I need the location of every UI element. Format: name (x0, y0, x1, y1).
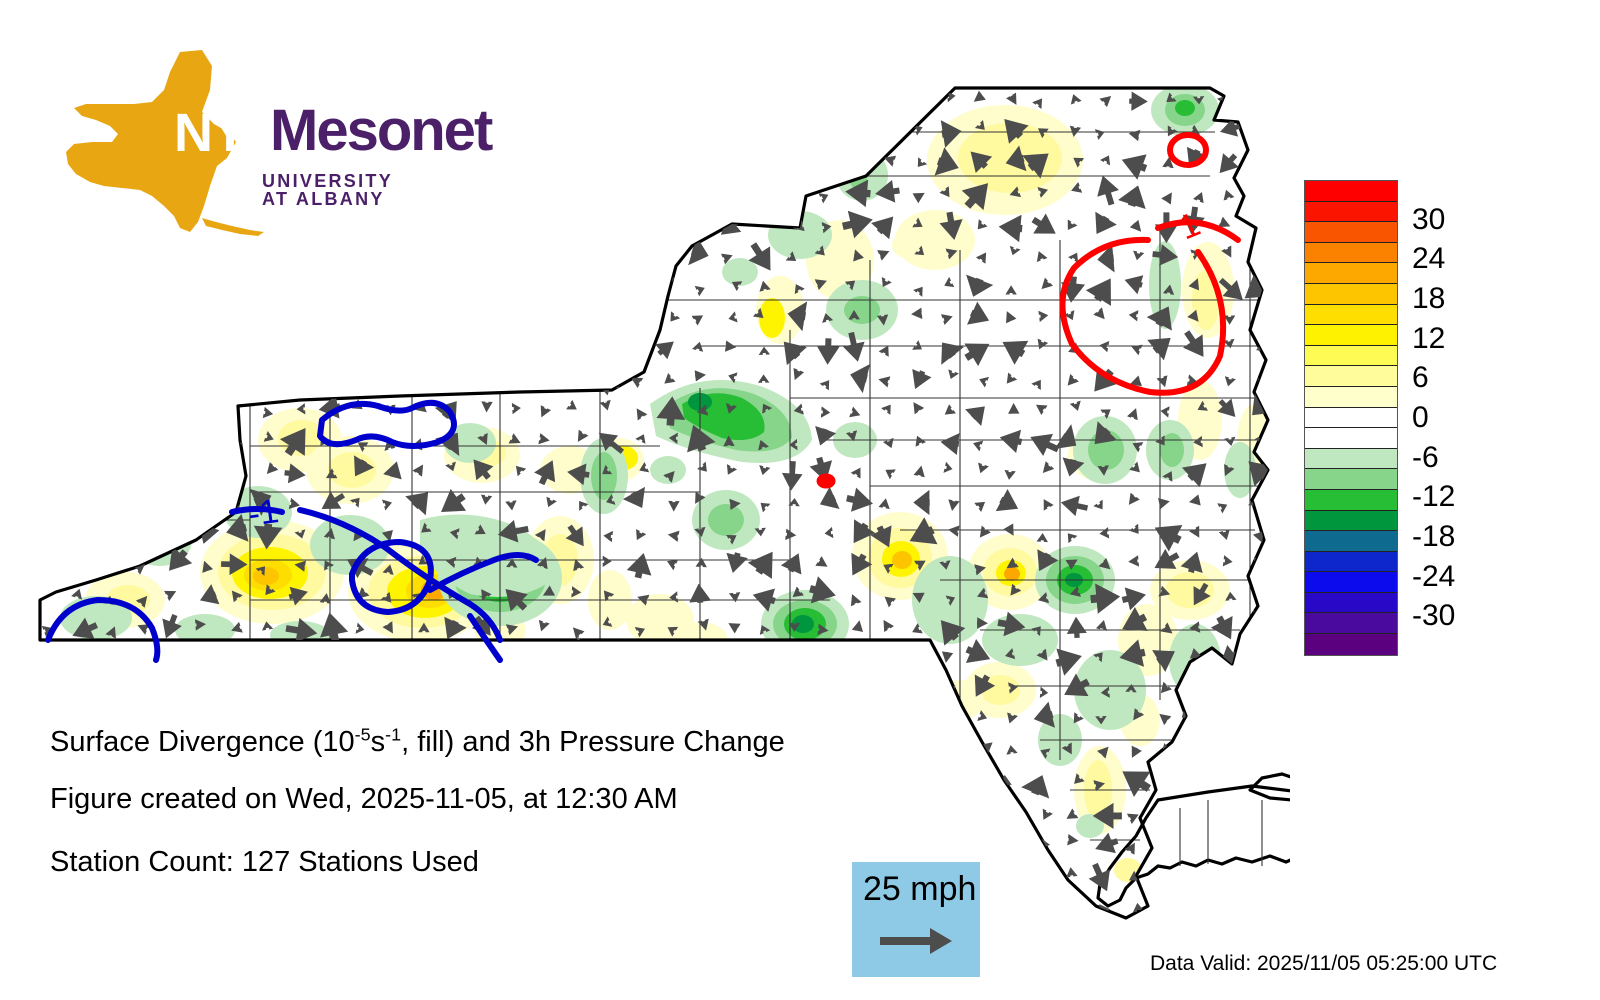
wind-vector-arrow (446, 309, 461, 323)
wind-vector-arrow (755, 841, 768, 855)
wind-vector-arrow (134, 651, 147, 663)
wind-vector-arrow (357, 128, 369, 141)
wind-vector-arrow (314, 669, 349, 703)
wind-vector-arrow (482, 189, 494, 203)
title-exponent-1: -5 (355, 724, 371, 744)
wind-vector-arrow (480, 680, 488, 691)
wind-vector-arrow (781, 764, 813, 794)
wind-vector-arrow (756, 123, 767, 136)
wind-vector-arrow (202, 713, 215, 726)
wind-vector-arrow (77, 337, 91, 350)
wind-vector-arrow (542, 681, 557, 696)
title-exponent-2: -1 (385, 724, 401, 744)
wind-vector-arrow (418, 712, 428, 724)
colorbar-band (1305, 325, 1397, 346)
wind-vector-arrow (108, 559, 120, 573)
wind-vector-arrow (163, 406, 177, 421)
wind-vector-arrow (535, 281, 548, 292)
wind-vector-arrow (930, 825, 961, 856)
wind-vector-arrow (135, 465, 149, 479)
wind-vector-arrow (757, 871, 771, 884)
wind-vector-arrow (686, 179, 711, 206)
wind-vector-arrow (66, 175, 94, 206)
wind-vector-arrow (506, 248, 521, 263)
wind-vector-arrow (1158, 774, 1172, 788)
wind-vector-arrow (37, 241, 68, 273)
wind-vector-arrow (59, 306, 95, 335)
wind-vector-arrow (72, 561, 85, 575)
wind-vector-arrow (790, 870, 800, 882)
wind-vector-arrow (167, 298, 189, 330)
wind-vector-arrow (681, 801, 716, 832)
wind-vector-arrow (604, 277, 616, 291)
wind-vector-arrow (295, 248, 307, 261)
wind-vector-arrow (785, 931, 796, 944)
wind-vector-arrow (388, 159, 400, 168)
wind-vector-arrow (469, 116, 499, 144)
wind-vector-arrow (339, 642, 374, 681)
wind-vector-arrow (387, 183, 401, 197)
wind-vector-arrow (255, 177, 282, 205)
wind-vector-arrow (567, 900, 581, 914)
wind-vector-arrow (540, 96, 552, 109)
wind-vector-arrow (747, 776, 773, 795)
wind-vector-arrow (656, 111, 682, 143)
title-part-3: , fill) and 3h Pressure Change (401, 726, 785, 758)
wind-vector-arrow (412, 642, 439, 670)
wind-vector-arrow (289, 187, 305, 203)
wind-vector-arrow (633, 842, 646, 854)
wind-vector-arrow (108, 897, 122, 911)
wind-vector-arrow (73, 492, 88, 507)
wind-vector-arrow (67, 888, 101, 921)
colorbar-band (1305, 305, 1397, 326)
wind-vector-arrow (814, 153, 829, 167)
wind-vector-arrow (631, 899, 645, 913)
wind-vector-arrow (1215, 832, 1233, 859)
wind-vector-arrow (42, 462, 54, 472)
wind-vector-arrow (229, 900, 245, 916)
wind-vector-arrow (451, 682, 463, 691)
divergence-colorbar[interactable] (1304, 180, 1398, 656)
wind-vector-arrow (349, 310, 365, 325)
wind-vector-arrow (137, 399, 150, 413)
wind-vector-arrow (566, 216, 579, 230)
wind-vector-arrow (506, 285, 518, 293)
colorbar-band (1305, 490, 1397, 511)
wind-vector-arrow (373, 236, 405, 269)
wind-vector-arrow (350, 338, 364, 352)
wind-vector-arrow (201, 158, 215, 171)
wind-vector-arrow (229, 154, 244, 169)
wind-vector-arrow (910, 745, 924, 759)
wind-vector-arrow (506, 126, 520, 139)
wind-vector-arrow (728, 838, 741, 852)
wind-vector-arrow (355, 97, 368, 110)
wind-vector-arrow (1255, 97, 1267, 109)
wind-vector-arrow (1005, 841, 1018, 855)
colorbar-band (1305, 366, 1397, 387)
wind-vector-arrow (281, 360, 312, 392)
wind-vector-arrow (816, 871, 830, 885)
wind-vector-arrow (261, 929, 275, 941)
wind-vector-arrow (319, 89, 334, 104)
wind-vector-arrow (259, 250, 270, 263)
wind-vector-arrow (474, 900, 488, 913)
wind-vector-arrow (387, 654, 402, 668)
wind-vector-arrow (598, 927, 613, 943)
wind-vector-arrow (846, 734, 867, 764)
wind-vector-arrow (42, 929, 56, 943)
wind-vector-arrow (814, 804, 828, 817)
wind-vector-arrow (791, 809, 801, 821)
wind-vector-arrow (408, 273, 430, 292)
wind-vector-arrow (291, 122, 303, 135)
colorbar-band (1305, 202, 1397, 223)
wind-vector-arrow (353, 189, 365, 202)
wind-vector-arrow (944, 745, 956, 757)
wind-vector-arrow (1248, 680, 1262, 695)
wind-vector-arrow (164, 926, 190, 943)
colorbar-tick-label: -12 (1412, 482, 1455, 512)
wind-vector-arrow (413, 309, 426, 323)
wind-vector-arrow (1215, 796, 1244, 825)
wind-vector-arrow (1224, 864, 1236, 878)
wind-vector-arrow (724, 801, 743, 825)
wind-vector-arrow (666, 930, 678, 940)
wind-vector-arrow (450, 127, 458, 138)
wind-vector-arrow (229, 679, 244, 694)
wind-vector-arrow (604, 649, 620, 664)
wind-vector-arrow (45, 342, 59, 356)
wind-vector-arrow (508, 94, 522, 109)
wind-vector-arrow (806, 736, 839, 770)
wind-vector-arrow (1224, 742, 1238, 756)
wind-vector-arrow (1253, 716, 1267, 729)
wind-vector-arrow (1189, 806, 1201, 815)
wind-vector-arrow (450, 185, 463, 197)
colorbar-tick-label: -30 (1412, 601, 1455, 631)
wind-vector-arrow (27, 265, 67, 304)
wind-vector-arrow (632, 650, 648, 666)
wind-vector-arrow (755, 93, 770, 107)
wind-vector-arrow (288, 161, 300, 169)
wind-vector-arrow (685, 893, 721, 927)
wind-vector-arrow (1090, 924, 1117, 949)
wind-vector-arrow (544, 153, 556, 166)
wind-vector-arrow (560, 296, 594, 331)
wind-vector-arrow (905, 829, 935, 859)
wind-vector-arrow (434, 205, 468, 239)
wind-vector-arrow (633, 92, 646, 106)
wind-vector-arrow (71, 525, 86, 540)
wind-vector-arrow (247, 117, 278, 145)
wind-vector-arrow (281, 330, 315, 364)
wind-vector-arrow (568, 372, 584, 388)
wind-vector-arrow (417, 682, 427, 694)
wind-vector-arrow (606, 346, 618, 356)
wind-vector-arrow (573, 155, 585, 169)
wind-vector-arrow (342, 888, 380, 926)
wind-vector-arrow (358, 712, 370, 722)
wind-vector-arrow (758, 153, 772, 167)
wind-vector-arrow (477, 276, 492, 291)
wind-vector-arrow (187, 109, 222, 145)
wind-vector-arrow (232, 188, 246, 203)
wind-vector-arrow (409, 922, 437, 950)
wind-vector-arrow (537, 339, 551, 352)
wind-vector-arrow (415, 245, 429, 257)
wind-vector-arrow (386, 340, 401, 355)
wind-vector-arrow (105, 494, 119, 508)
wind-vector-arrow (819, 932, 832, 945)
wind-vector-arrow (538, 655, 552, 669)
wind-vector-arrow (662, 223, 674, 233)
wind-vector-arrow (289, 305, 305, 321)
wind-vector-arrow (136, 313, 151, 328)
wind-vector-arrow (882, 807, 891, 819)
wind-vector-arrow (232, 374, 244, 386)
wind-vector-arrow (607, 683, 616, 695)
wind-vector-arrow (912, 806, 923, 817)
wind-vector-arrow (933, 705, 960, 731)
wind-vector-arrow (559, 116, 591, 148)
wind-vector-arrow (351, 679, 364, 689)
wind-vector-arrow (404, 112, 446, 154)
wind-vector-arrow (783, 654, 797, 668)
wind-vector-arrow (564, 636, 598, 673)
wind-vector-arrow (442, 153, 455, 166)
wind-vector-arrow (478, 338, 492, 353)
wind-vector-arrow (30, 510, 72, 551)
wind-vector-arrow (102, 248, 120, 269)
wind-vector-arrow (101, 220, 115, 234)
wind-vector-arrow (1213, 700, 1248, 734)
wind-vector-arrow (479, 652, 491, 665)
colorbar-band (1305, 243, 1397, 264)
colorbar-band (1305, 469, 1397, 490)
wind-vector-arrow (229, 278, 242, 289)
wind-vector-arrow (166, 254, 178, 265)
wind-vector-arrow (194, 685, 209, 700)
wind-vector-arrow (538, 836, 551, 850)
wind-vector-arrow (415, 370, 427, 383)
wind-vector-arrow (201, 185, 215, 199)
wind-vector-arrow (289, 219, 302, 231)
wind-vector-arrow (386, 281, 399, 293)
wind-vector-arrow (1069, 900, 1080, 913)
wind-vector-arrow (691, 928, 703, 941)
wind-vector-arrow (385, 895, 400, 909)
wind-vector-arrow (414, 185, 428, 197)
wind-vector-arrow (599, 120, 613, 134)
wind-vector-arrow (498, 673, 532, 709)
wind-vector-arrow (592, 302, 626, 338)
wind-vector-arrow (195, 433, 210, 448)
wind-vector-arrow (258, 215, 272, 230)
wind-vector-arrow (385, 218, 397, 226)
wind-vector-arrow (851, 779, 863, 793)
wind-vector-arrow (759, 804, 774, 818)
wind-vector-arrow (42, 95, 57, 109)
wind-vector-arrow (105, 465, 119, 477)
wind-vector-arrow (71, 677, 97, 705)
wind-vector-arrow (719, 677, 750, 705)
wind-vector-arrow (201, 897, 216, 911)
wind-vector-arrow (191, 205, 224, 238)
wind-vector-arrow (41, 122, 53, 134)
wind-vector-arrow (197, 464, 210, 476)
figure-created-text: Figure created on Wed, 2025-11-05, at 12… (50, 783, 678, 816)
wind-vector-arrow (876, 679, 891, 694)
wind-vector-arrow (847, 159, 858, 172)
wind-vector-arrow (1128, 933, 1142, 948)
wind-vector-arrow (540, 184, 554, 197)
wind-vector-arrow (170, 653, 184, 666)
wind-vector-arrow (883, 743, 896, 754)
wind-vector-arrow (136, 680, 151, 695)
wind-legend-label: 25 mph (863, 870, 976, 909)
wind-vector-arrow (353, 277, 362, 289)
wind-vector-arrow (510, 900, 521, 913)
wind-vector-arrow (476, 252, 488, 263)
wind-vector-arrow (786, 745, 800, 759)
wind-vector-arrow (529, 892, 559, 920)
wind-vector-arrow (570, 932, 584, 946)
wind-vector-arrow (126, 363, 155, 397)
wind-vector-arrow (818, 653, 832, 667)
wind-vector-arrow (620, 174, 650, 204)
wind-vector-arrow (75, 92, 88, 106)
wind-vector-arrow (287, 710, 300, 724)
wind-vector-arrow (664, 682, 679, 698)
wind-vector-arrow (385, 314, 398, 326)
wind-vector-arrow (374, 366, 406, 392)
wind-vector-arrow (47, 184, 61, 199)
wind-vector-arrow (136, 437, 148, 451)
wind-vector-arrow (43, 563, 55, 574)
wind-vector-arrow (198, 649, 210, 661)
wind-vector-arrow (414, 895, 428, 910)
wind-vector-arrow (165, 336, 188, 363)
colorbar-tick-label: 0 (1412, 403, 1429, 433)
wind-vector-arrow (1244, 922, 1272, 953)
wind-vector-arrow (728, 652, 743, 667)
wind-vector-arrow (757, 653, 772, 668)
wind-vector-arrow (447, 377, 459, 387)
ny-state-divergence-map[interactable]: 1 -1 (0, 0, 1290, 960)
wind-vector-arrow (475, 217, 488, 228)
wind-vector-arrow (321, 126, 335, 140)
colorbar-tick-label: -6 (1412, 443, 1439, 473)
wind-vector-arrow (90, 639, 127, 671)
wind-vector-arrow (322, 280, 336, 293)
wind-vector-arrow (72, 463, 86, 477)
wind-vector-arrow (503, 218, 518, 233)
wind-vector-arrow (204, 493, 215, 505)
wind-vector-arrow (1066, 922, 1086, 951)
wind-vector-arrow (502, 643, 535, 671)
wind-vector-arrow (139, 929, 152, 942)
wind-vector-arrow (691, 158, 706, 172)
wind-vector-arrow (42, 374, 57, 389)
wind-vector-arrow (43, 311, 56, 323)
wind-vector-arrow (198, 340, 210, 351)
wind-vector-arrow (402, 84, 440, 121)
wind-vector-arrow (170, 898, 182, 911)
wind-vector-arrow (1192, 744, 1206, 757)
wind-vector-arrow (729, 899, 741, 913)
wind-vector-arrow (135, 214, 160, 240)
wind-vector-arrow (262, 340, 273, 349)
wind-vector-arrow (595, 835, 617, 858)
wind-vector-arrow (261, 682, 274, 693)
colorbar-band (1305, 181, 1397, 202)
wind-vector-arrow (320, 344, 335, 359)
wind-vector-arrow (41, 402, 56, 417)
wind-vector-arrow (505, 370, 518, 382)
wind-vector-arrow (443, 343, 457, 357)
wind-vector-arrow (540, 243, 556, 259)
colorbar-tick-label: 30 (1412, 205, 1445, 235)
wind-vector-arrow (282, 891, 306, 915)
wind-vector-arrow (931, 761, 969, 798)
wind-vector-arrow (541, 930, 555, 944)
wind-vector-arrow (63, 239, 96, 272)
data-valid-timestamp: Data Valid: 2025/11/05 05:25:00 UTC (1150, 952, 1497, 976)
wind-vector-arrow (217, 239, 248, 274)
wind-vector-arrow (882, 90, 896, 104)
wind-vector-arrow (228, 217, 240, 226)
wind-vector-arrow (76, 276, 92, 292)
wind-vector-arrow (104, 343, 118, 356)
wind-vector-arrow (109, 933, 122, 945)
wind-vector-arrow (158, 112, 190, 143)
wind-vector-arrow (1220, 681, 1243, 698)
wind-vector-arrow (442, 247, 456, 259)
wind-vector-arrow (636, 871, 648, 885)
wind-vector-arrow (133, 344, 149, 359)
wind-vector-arrow (719, 118, 746, 145)
wind-vector-arrow (1220, 932, 1235, 947)
colorbar-band (1305, 634, 1397, 655)
wind-vector-arrow (138, 92, 151, 106)
wind-vector-arrow (1158, 840, 1168, 853)
wind-vector-arrow (227, 932, 239, 941)
wind-vector-arrow (621, 923, 650, 953)
wind-vector-arrow (852, 838, 864, 848)
wind-vector-arrow (169, 467, 183, 480)
wind-vector-arrow (325, 935, 338, 947)
wind-vector-arrow (651, 147, 682, 177)
wind-vector-arrow (226, 313, 241, 328)
wind-vector-arrow (292, 647, 307, 661)
wind-vector-arrow (70, 653, 85, 669)
wind-vector-arrow (172, 158, 186, 172)
wind-vector-arrow (603, 868, 615, 882)
station-count-text: Station Count: 127 Stations Used (50, 846, 479, 879)
wind-vector-arrow (36, 642, 68, 674)
wind-vector-arrow (72, 403, 85, 417)
wind-vector-arrow (45, 435, 59, 450)
wind-vector-arrow (689, 777, 705, 792)
wind-vector-arrow (155, 200, 196, 241)
wind-vector-arrow (31, 675, 65, 701)
colorbar-band (1305, 449, 1397, 470)
wind-vector-arrow (279, 921, 316, 959)
wind-vector-arrow (101, 185, 114, 198)
wind-vector-arrow (787, 91, 797, 103)
